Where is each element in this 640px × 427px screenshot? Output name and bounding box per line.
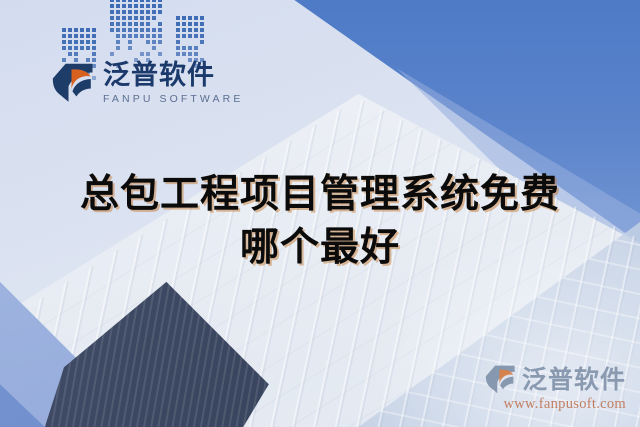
brand-logo: 泛普软件 FANPU SOFTWARE xyxy=(52,62,243,105)
watermark: 泛普软件 www.fanpusoft.com xyxy=(485,365,626,413)
watermark-url: www.fanpusoft.com xyxy=(485,396,626,413)
headline-line-2: 哪个最好 xyxy=(0,221,640,274)
brand-name-en: FANPU SOFTWARE xyxy=(103,94,243,105)
fanpu-shield-icon xyxy=(52,63,94,103)
watermark-brand-row: 泛普软件 xyxy=(485,365,626,394)
headline: 总包工程项目管理系统免费 哪个最好 xyxy=(0,168,640,275)
brand-logo-text: 泛普软件 FANPU SOFTWARE xyxy=(103,62,243,105)
brand-name-cn: 泛普软件 xyxy=(103,62,243,89)
promo-banner: 泛普软件 FANPU SOFTWARE 总包工程项目管理系统免费 哪个最好 泛普… xyxy=(0,0,640,427)
fanpu-shield-icon xyxy=(485,365,516,394)
watermark-brand-name: 泛普软件 xyxy=(522,367,626,392)
headline-line-1: 总包工程项目管理系统免费 xyxy=(80,172,560,217)
